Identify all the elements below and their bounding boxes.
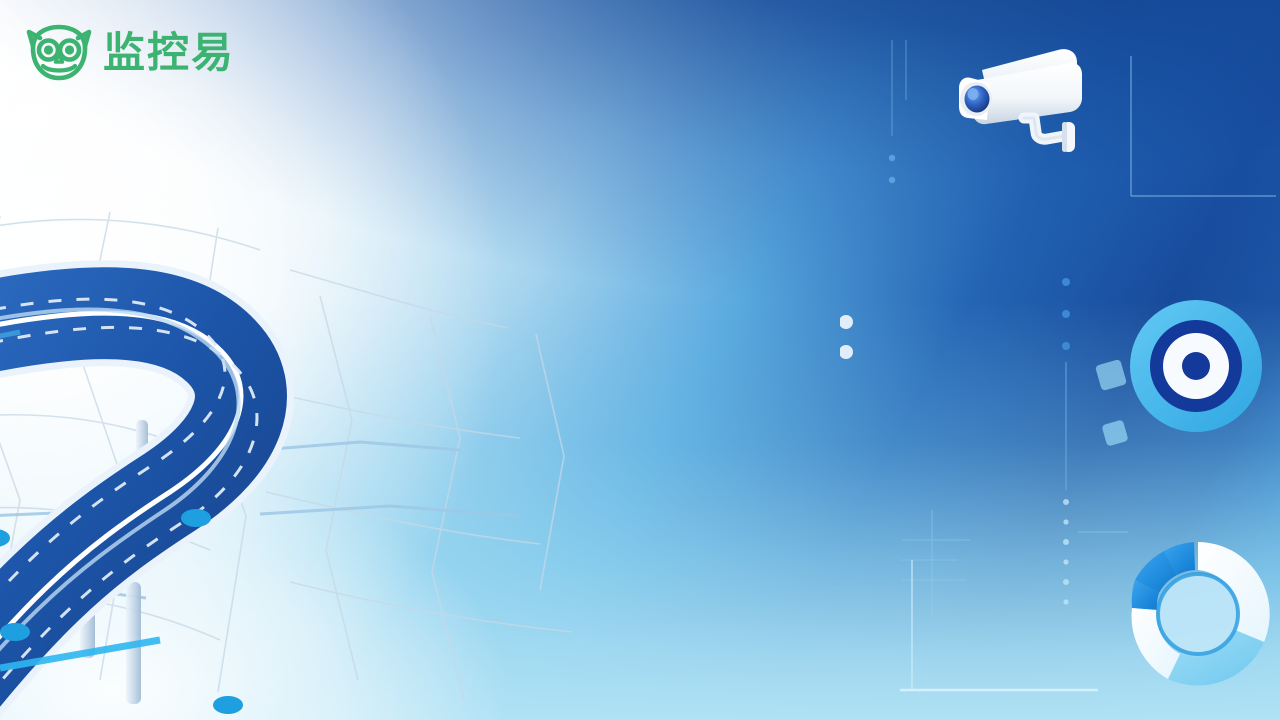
svg-text:监控易: 监控易 bbox=[103, 29, 235, 76]
donut-chart-icon bbox=[1112, 528, 1280, 700]
cctv-camera-icon bbox=[946, 36, 1096, 171]
top-right-bar-chart bbox=[1096, 44, 1280, 230]
highway-road-icon bbox=[0, 120, 600, 720]
slide-canvas: 监控易 bbox=[0, 0, 1280, 720]
owl-logo-icon bbox=[26, 22, 92, 84]
bottom-right-bar-chart bbox=[900, 540, 1105, 720]
brand-logo[interactable]: 监控易 bbox=[26, 22, 293, 84]
gear-icon bbox=[1108, 278, 1280, 454]
brand-name-wordmark: 监控易 bbox=[103, 29, 293, 77]
